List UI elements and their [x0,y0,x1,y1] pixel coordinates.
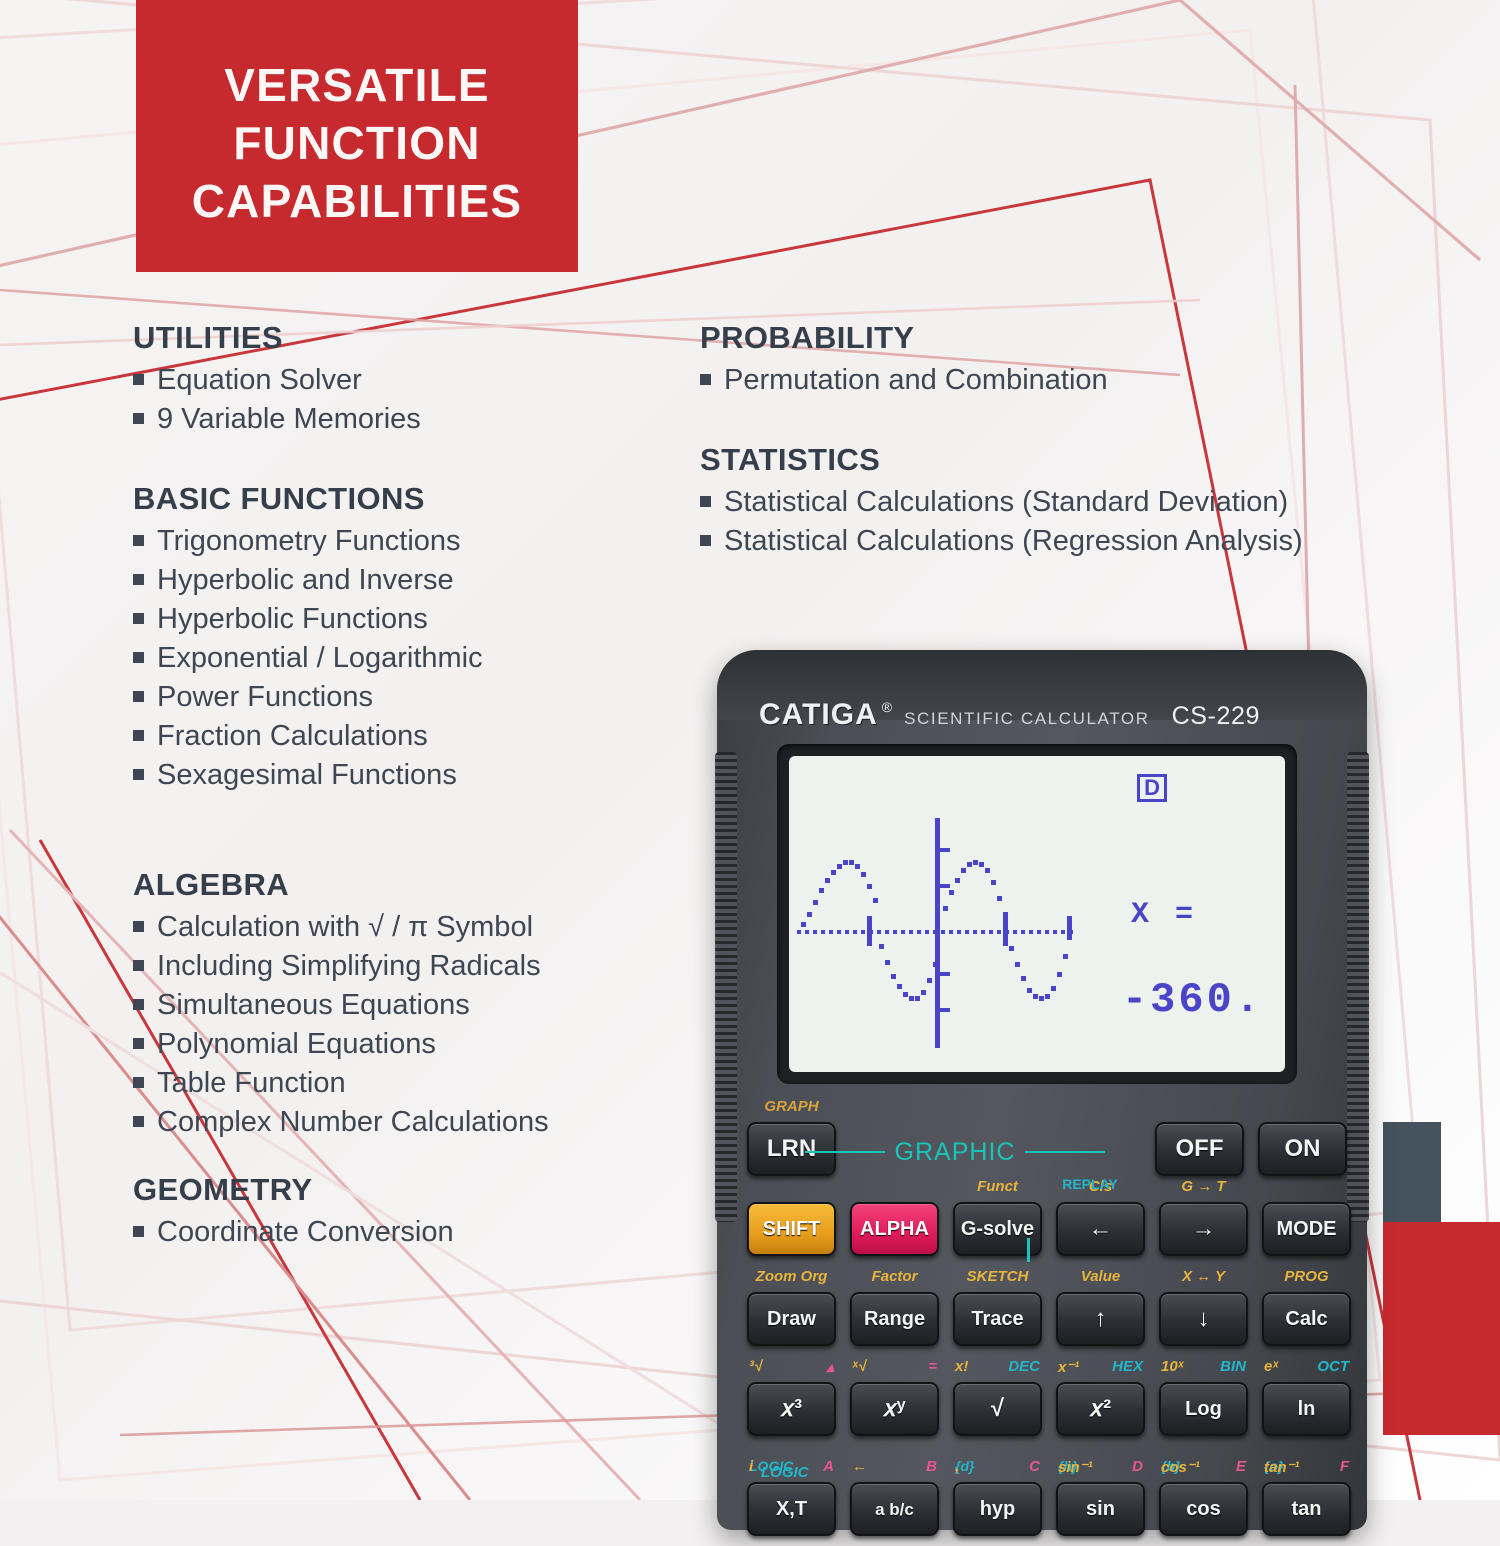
key-base-label-bin: BIN [1220,1358,1246,1375]
key-shift-label: x⁻¹ [1058,1358,1079,1376]
section-heading-algebra: ALGEBRA [133,867,733,903]
key-cell-right-arrow: G → T → [1159,1202,1248,1256]
key-shift-label: sin⁻¹ [1058,1458,1093,1476]
key-x-t[interactable]: X,T [747,1482,836,1536]
list-item: Coordinate Conversion [133,1213,733,1252]
key-alpha-label: F [1340,1458,1349,1476]
feature-column-left: UTILITIES Equation Solver 9 Variable Mem… [133,320,733,1252]
bullet-square-icon [133,921,144,932]
list-item: Power Functions [133,678,733,717]
key-left-arrow-icon[interactable]: ← [1056,1202,1145,1256]
graphic-rule-left [805,1151,885,1153]
key-shift-label-graph: GRAPH [747,1098,836,1115]
key-off[interactable]: OFF [1155,1122,1244,1176]
key-right-arrow-icon[interactable]: → [1159,1202,1248,1256]
key-base-label-dec: DEC [1008,1358,1040,1375]
key-cell-x-t: i A X,T [747,1482,836,1536]
key-sin[interactable]: sin [1056,1482,1145,1536]
bullet-square-icon [133,374,144,385]
key-cell-log: 10ˣ BIN Log {b} [1159,1382,1248,1436]
key-shift-label: 10ˣ [1161,1358,1184,1375]
bullet-square-icon [133,960,144,971]
list-item: Statistical Calculations (Standard Devia… [700,483,1480,522]
key-cell-calc: PROG Calc [1262,1292,1351,1346]
key-up-arrow-icon[interactable]: ↑ [1056,1292,1145,1346]
section-list-statistics: Statistical Calculations (Standard Devia… [700,483,1480,561]
key-cell-ln: eˣ OCT ln {o} [1262,1382,1351,1436]
key-cell-up-arrow: Value ↑ [1056,1292,1145,1346]
list-item-label: Coordinate Conversion [157,1213,454,1252]
key-x-squared[interactable]: 𝑥² [1056,1382,1145,1436]
key-cell-sin: sin⁻¹ D sin [1056,1482,1145,1536]
key-shift-label-sketch: SKETCH [953,1268,1042,1285]
list-item: Sexagesimal Functions [133,756,733,795]
key-shift-label: , [955,1458,959,1475]
key-cell-mode: MODE [1262,1202,1351,1256]
bullet-square-icon [133,535,144,546]
key-calc[interactable]: Calc [1262,1292,1351,1346]
key-alt-labels: 10ˣ BIN [1159,1358,1248,1375]
section-heading-geometry: GEOMETRY [133,1172,733,1208]
key-shift-label: tan⁻¹ [1264,1458,1299,1476]
lcd-mode-indicator: D [1137,774,1167,802]
list-item-label: 9 Variable Memories [157,400,421,439]
list-item: Calculation with √ / π Symbol [133,908,733,947]
key-cell-cos: cos⁻¹ E cos [1159,1482,1248,1536]
key-cell-draw: Zoom Org Draw [747,1292,836,1346]
section-heading-utilities: UTILITIES [133,320,733,356]
lcd-prompt: X = [1131,898,1197,932]
key-hyp[interactable]: hyp [953,1482,1042,1536]
graphic-rule-right [1025,1151,1105,1153]
key-cell-trace: SKETCH Trace [953,1292,1042,1346]
graphic-label-text: GRAPHIC [895,1138,1016,1167]
spacer [700,400,1480,442]
key-cell-tan: tan⁻¹ F tan [1262,1482,1351,1536]
key-alt-labels: cos⁻¹ E [1159,1458,1248,1476]
key-x-power-y[interactable]: 𝑥ʸ [850,1382,939,1436]
key-draw[interactable]: Draw [747,1292,836,1346]
calculator-right-grip-ridges [1347,752,1369,1222]
key-cos[interactable]: cos [1159,1482,1248,1536]
key-cell-range: Factor Range [850,1292,939,1346]
key-alpha-label: = [928,1358,937,1375]
list-item: Trigonometry Functions [133,522,733,561]
key-shift-label-value: Value [1056,1268,1145,1285]
list-item: Permutation and Combination [700,361,1480,400]
key-square-root-icon[interactable]: √ [953,1382,1042,1436]
section-list-probability: Permutation and Combination [700,361,1480,400]
list-item: Simultaneous Equations [133,986,733,1025]
key-x-cubed[interactable]: 𝑥³ [747,1382,836,1436]
key-cell-fraction: ← B a b/c [850,1482,939,1536]
key-shift-label: x! [955,1358,968,1375]
key-trace[interactable]: Trace [953,1292,1042,1346]
list-item-label: Statistical Calculations (Regression Ana… [724,522,1303,561]
list-item: Polynomial Equations [133,1025,733,1064]
brand-name: CATIGA [759,698,878,732]
key-cell-x-power-y: ˣ√ = 𝑥ʸ [850,1382,939,1436]
bullet-square-icon [133,1116,144,1127]
bullet-square-icon [133,1226,144,1237]
key-shift-label: ← [852,1458,867,1475]
list-item: 9 Variable Memories [133,400,733,439]
list-item-label: Statistical Calculations (Standard Devia… [724,483,1288,522]
model-number: CS-229 [1172,702,1260,731]
bullet-square-icon [133,413,144,424]
key-alpha-label: A [823,1458,834,1475]
title-line-1: VERSATILE [224,56,490,114]
key-shift-label: i [749,1458,753,1475]
key-shift-label-prog: PROG [1262,1268,1351,1285]
brand-subtitle: SCIENTIFIC CALCULATOR [904,709,1150,729]
key-shift-label-x-swap-y: X ↔ Y [1159,1268,1248,1285]
section-heading-statistics: STATISTICS [700,442,1480,478]
section-heading-basic-functions: BASIC FUNCTIONS [133,481,733,517]
list-item-label: Power Functions [157,678,373,717]
title-banner: VERSATILE FUNCTION CAPABILITIES [136,0,578,272]
list-item-label: Complex Number Calculations [157,1103,549,1142]
key-alpha-label: B [926,1458,937,1475]
bullet-square-icon [133,1038,144,1049]
spacer [133,439,733,481]
key-tan[interactable]: tan [1262,1482,1351,1536]
red-accent-block [1383,1222,1500,1435]
lcd-value: -360. [1122,976,1263,1024]
list-item-label: Simultaneous Equations [157,986,470,1025]
key-alpha-label: ▴ [826,1358,834,1376]
list-item: Equation Solver [133,361,733,400]
key-cell-on: ON [1258,1122,1347,1176]
bullet-square-icon [700,496,711,507]
sine-wave-graph [789,756,1285,1072]
section-list-geometry: Coordinate Conversion [133,1213,733,1252]
spacer [133,795,733,867]
key-ln[interactable]: ln [1262,1382,1351,1436]
key-fraction-abc[interactable]: a b/c [850,1482,939,1536]
key-base-label-logic: LOGIC [747,1464,1347,1481]
key-alpha[interactable]: ALPHA [850,1202,939,1256]
list-item: Hyperbolic and Inverse [133,561,733,600]
key-cell-off: OFF [1155,1122,1244,1176]
replay-tick-mark [1027,1238,1030,1262]
key-cell-x-squared: x⁻¹ HEX 𝑥² {h} [1056,1382,1145,1436]
list-item-label: Polynomial Equations [157,1025,436,1064]
key-shift[interactable]: SHIFT [747,1202,836,1256]
lcd-screen[interactable]: D X = -360. [789,756,1285,1072]
key-cell-alpha: ALPHA [850,1202,939,1256]
title-line-3: CAPABILITIES [192,172,522,230]
section-heading-probability: PROBABILITY [700,320,1480,356]
list-item-label: Hyperbolic Functions [157,600,428,639]
bullet-square-icon [133,613,144,624]
key-alpha-label: E [1236,1458,1246,1476]
keypad-row-5: i A X,T ← B a b/c , C hyp [747,1482,1347,1536]
title-line-2: FUNCTION [233,114,480,172]
list-item-label: Table Function [157,1064,346,1103]
list-item: Complex Number Calculations [133,1103,733,1142]
brand-row: CATIGA ® SCIENTIFIC CALCULATOR CS-229 [759,698,1329,736]
key-shift-label: ³√ [749,1358,762,1376]
list-item-label: Calculation with √ / π Symbol [157,908,533,947]
list-item: Statistical Calculations (Regression Ana… [700,522,1480,561]
list-item-label: Trigonometry Functions [157,522,461,561]
spacer [133,1142,733,1172]
key-log[interactable]: Log [1159,1382,1248,1436]
bullet-square-icon [700,374,711,385]
bullet-square-icon [700,535,711,546]
key-alt-labels: , C [953,1458,1042,1475]
key-shift-label-factor: Factor [850,1268,939,1285]
key-alt-labels: i A [747,1458,836,1475]
bullet-square-icon [133,691,144,702]
section-list-utilities: Equation Solver 9 Variable Memories [133,361,733,439]
bullet-square-icon [133,730,144,741]
key-shift-label: cos⁻¹ [1161,1458,1200,1476]
keypad: GRAPH LRN OFF ON SHIFT ALPHA Funct G- [747,1122,1347,1546]
key-alt-labels: ³√ ▴ [747,1358,836,1376]
key-base-label-oct: OCT [1317,1358,1349,1375]
list-item-label: Permutation and Combination [724,361,1108,400]
key-cell-left-arrow: Cls ← [1056,1202,1145,1256]
key-shift-label-zoom-org: Zoom Org [747,1268,836,1285]
key-shift-label: ˣ√ [852,1358,866,1375]
graphic-silkscreen-label: GRAPHIC [805,1128,1105,1176]
list-item-label: Exponential / Logarithmic [157,639,483,678]
key-alt-labels: x⁻¹ HEX [1056,1358,1145,1376]
key-cell-shift: SHIFT [747,1202,836,1256]
keypad-row-4: ³√ ▴ 𝑥³ LOGIC ˣ√ = 𝑥ʸ x! DEC [747,1382,1347,1436]
key-alt-labels: x! DEC [953,1358,1042,1375]
key-mode[interactable]: MODE [1262,1202,1351,1256]
lcd-bezel: D X = -360. [777,744,1297,1084]
key-alt-labels: ← B [850,1458,939,1475]
key-alt-labels: tan⁻¹ F [1262,1458,1351,1476]
list-item: Fraction Calculations [133,717,733,756]
replay-label: REPLAY [1045,1176,1135,1192]
feature-column-right: PROBABILITY Permutation and Combination … [700,320,1480,561]
key-cell-hyp: , C hyp [953,1482,1042,1536]
key-base-label-hex: HEX [1112,1358,1143,1376]
key-cell-down-arrow: X ↔ Y ↓ [1159,1292,1248,1346]
key-alt-labels: sin⁻¹ D [1056,1458,1145,1476]
registered-trademark-icon: ® [882,699,892,715]
keypad-row-2: SHIFT ALPHA Funct G-solve Cls ← G → T → … [747,1202,1347,1256]
list-item-label: Fraction Calculations [157,717,428,756]
key-alt-labels: eˣ OCT [1262,1358,1351,1375]
bullet-square-icon [133,769,144,780]
calculator-product-photo: CATIGA ® SCIENTIFIC CALCULATOR CS-229 [697,632,1387,1512]
bullet-square-icon [133,652,144,663]
key-shift-label-funct: Funct [953,1178,1042,1195]
section-list-basic-functions: Trigonometry Functions Hyperbolic and In… [133,522,733,795]
list-item-label: Including Simplifying Radicals [157,947,541,986]
bullet-square-icon [133,574,144,585]
bullet-square-icon [133,999,144,1010]
keypad-row-3: Zoom Org Draw Factor Range SKETCH Trace … [747,1292,1347,1346]
key-alt-labels: ˣ√ = [850,1358,939,1375]
list-item-label: Hyperbolic and Inverse [157,561,454,600]
key-cell-sqrt: x! DEC √ {d} [953,1382,1042,1436]
key-alpha-label: C [1029,1458,1040,1475]
list-item: Hyperbolic Functions [133,600,733,639]
section-list-algebra: Calculation with √ / π Symbol Including … [133,908,733,1142]
key-cell-x-cubed: ³√ ▴ 𝑥³ LOGIC [747,1382,836,1436]
calculator-left-grip-ridges [715,752,737,1222]
key-range[interactable]: Range [850,1292,939,1346]
key-down-arrow-icon[interactable]: ↓ [1159,1292,1248,1346]
list-item-label: Equation Solver [157,361,362,400]
key-alpha-label: D [1132,1458,1143,1476]
list-item: Table Function [133,1064,733,1103]
key-shift-label-g-to-t: G → T [1159,1178,1248,1195]
list-item: Exponential / Logarithmic [133,639,733,678]
bullet-square-icon [133,1077,144,1088]
list-item: Including Simplifying Radicals [133,947,733,986]
key-shift-label: eˣ [1264,1358,1278,1375]
list-item-label: Sexagesimal Functions [157,756,457,795]
key-on[interactable]: ON [1258,1122,1347,1176]
